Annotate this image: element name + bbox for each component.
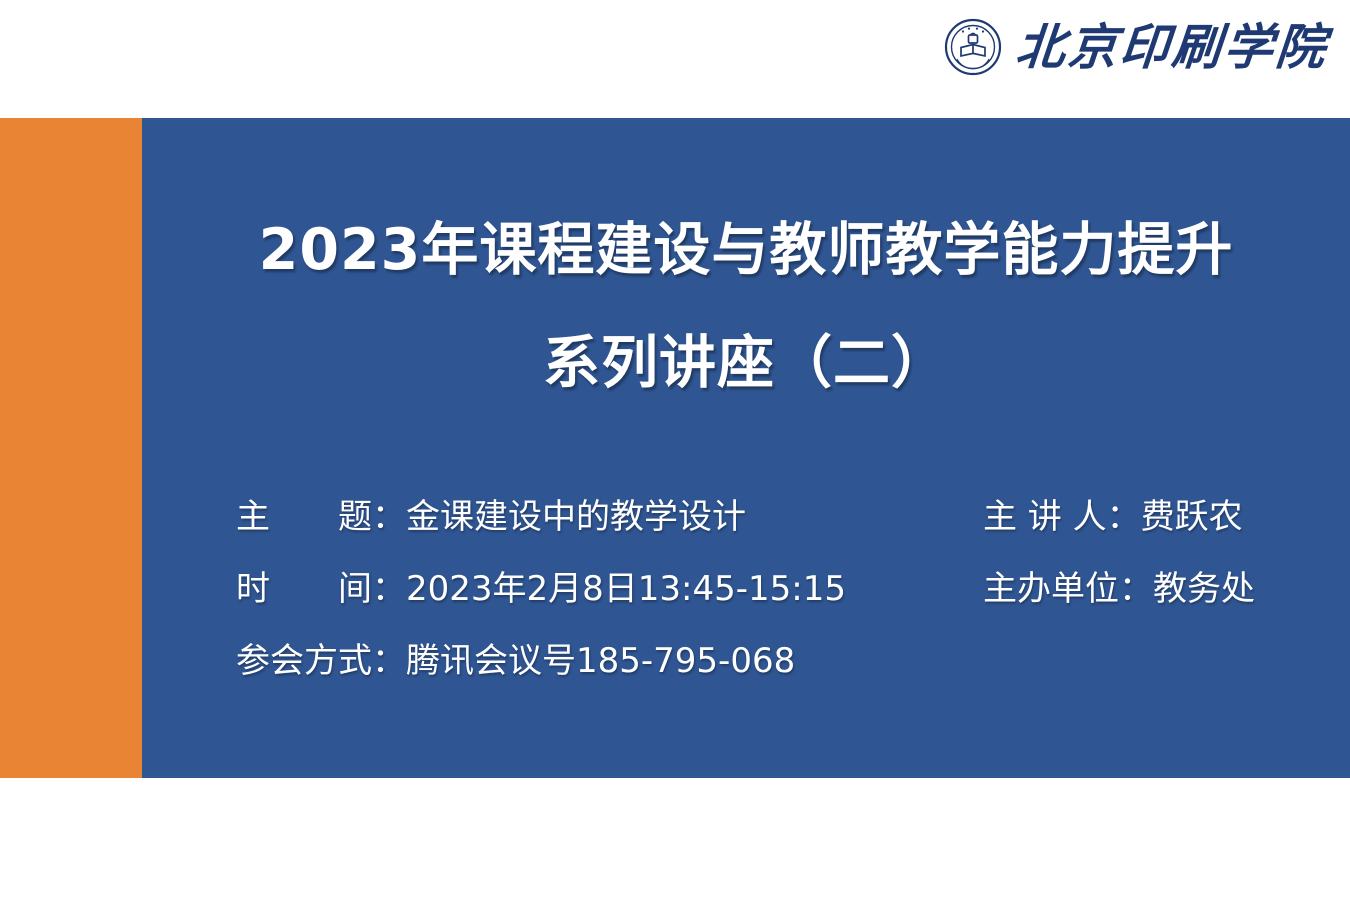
poster-title-line-2: 系列讲座（二） — [142, 335, 1350, 392]
detail-label-speaker: 主 讲 人： — [983, 500, 1141, 534]
poster-title-block: 2023年课程建设与教师教学能力提升 系列讲座（二） — [142, 222, 1350, 392]
detail-label-topic: 主 题： — [236, 500, 406, 534]
university-seal-icon — [944, 18, 1002, 76]
detail-value-organizer: 教务处 — [1153, 572, 1255, 606]
details-column-right: 主 讲 人： 费跃农 主办单位： 教务处 — [983, 500, 1255, 644]
detail-label-join-method: 参会方式： — [236, 644, 406, 678]
detail-row-organizer: 主办单位： 教务处 — [983, 572, 1255, 644]
poster-details: 主 题： 金课建设中的教学设计 时 间： 2023年2月8日13:45-15:1… — [0, 500, 1350, 730]
university-logo-lockup: 北京印刷学院 — [944, 18, 1328, 76]
detail-row-join-method: 参会方式： 腾讯会议号185-795-068 — [236, 644, 846, 716]
poster-title-line-1: 2023年课程建设与教师教学能力提升 — [142, 222, 1350, 279]
header-logo-bar: 北京印刷学院 — [0, 0, 1350, 118]
details-column-left: 主 题： 金课建设中的教学设计 时 间： 2023年2月8日13:45-15:1… — [236, 500, 846, 716]
detail-row-time: 时 间： 2023年2月8日13:45-15:15 — [236, 572, 846, 644]
detail-label-organizer: 主办单位： — [983, 572, 1153, 606]
detail-value-time: 2023年2月8日13:45-15:15 — [406, 572, 846, 606]
university-wordmark: 北京印刷学院 — [1014, 23, 1330, 72]
detail-value-topic: 金课建设中的教学设计 — [406, 500, 746, 534]
detail-row-speaker: 主 讲 人： 费跃农 — [983, 500, 1255, 572]
detail-value-join-method: 腾讯会议号185-795-068 — [406, 644, 795, 678]
detail-value-speaker: 费跃农 — [1141, 500, 1243, 534]
detail-label-time: 时 间： — [236, 572, 406, 606]
detail-row-topic: 主 题： 金课建设中的教学设计 — [236, 500, 846, 572]
